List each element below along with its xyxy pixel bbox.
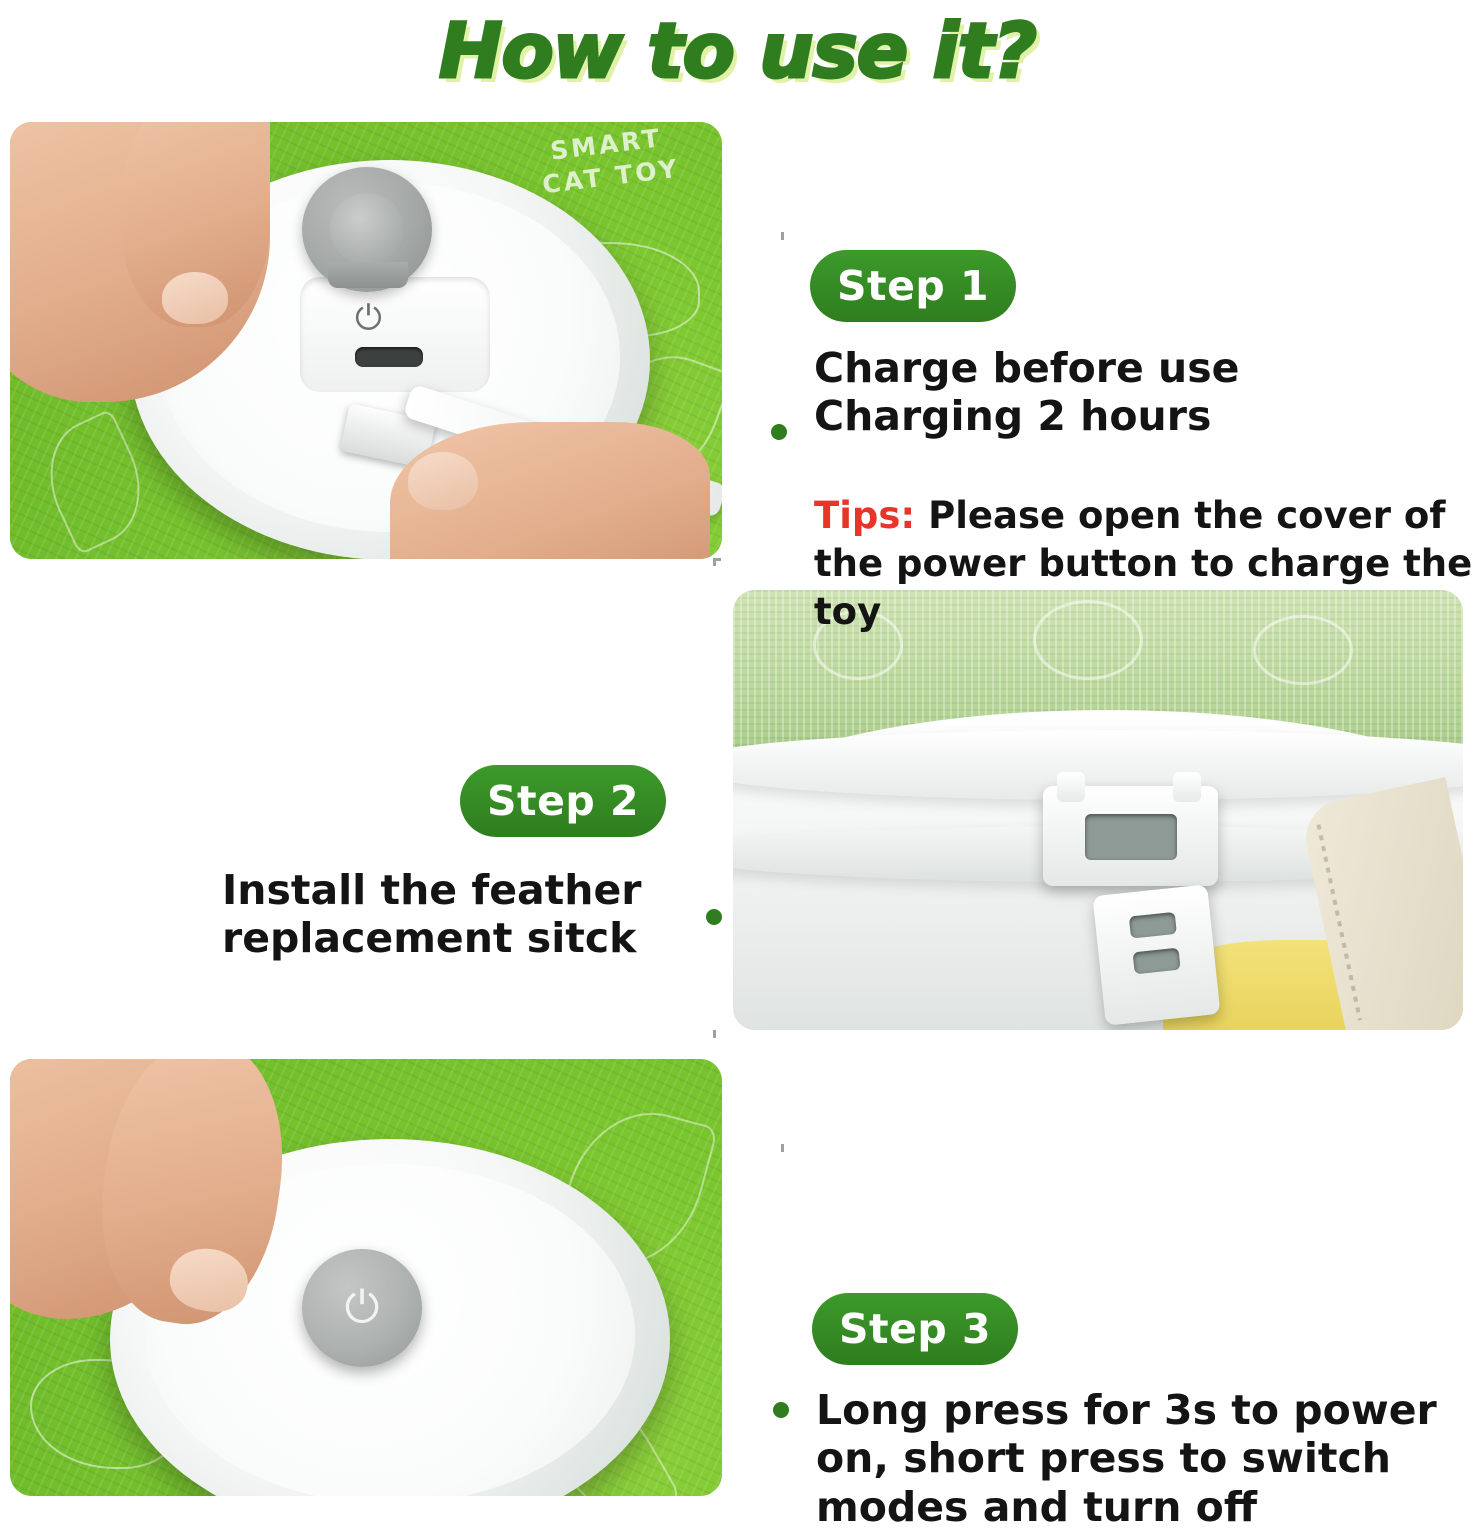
fingernail-right [408, 452, 478, 510]
steps-board: SMART CAT TOY ⏻ [0, 104, 1475, 1500]
connector-line-step2-vertical [713, 558, 716, 909]
clip-slot-a [1129, 912, 1177, 939]
page-title: How to use it? [439, 6, 1036, 95]
power-button[interactable]: ⏻ [302, 1249, 422, 1367]
step-1-badge: Step 1 [810, 250, 1016, 322]
step-1-bullet [771, 424, 787, 440]
connector-line-step1 [781, 232, 784, 424]
usb-c-port [355, 347, 423, 367]
step-3-bullet [773, 1402, 789, 1418]
photo-power-step3: ⏻ [10, 1059, 722, 1496]
fingernail-left [162, 272, 228, 324]
page-title-wrap: How to use it? [0, 0, 1475, 104]
tips-label: Tips: [814, 494, 915, 537]
step-2-badge: Step 2 [460, 765, 666, 837]
clip-tab-left [1057, 772, 1085, 802]
photo-clip-step2 [733, 590, 1463, 1030]
clip-slot-main [1085, 814, 1177, 860]
power-icon: ⏻ [345, 1286, 380, 1330]
connector-line-step3-vertical [781, 1144, 784, 1402]
step-2-text: Install the feather replacement sitck [222, 866, 692, 963]
connector-line-step3-top [713, 1144, 783, 1147]
step-2-bullet [706, 909, 722, 925]
clip-tab-right [1173, 772, 1201, 802]
cap-hinge [328, 262, 408, 288]
connector-line-step2-top [713, 558, 783, 561]
feather-stick-clip-secondary [1093, 884, 1221, 1025]
step-1-tips: Tips: Please open the cover of the power… [814, 492, 1474, 636]
power-symbol-icon: ⏻ [355, 298, 382, 338]
step-3-text: Long press for 3s to power on, short pre… [816, 1386, 1456, 1531]
feather-stick-clip-main [1043, 786, 1218, 886]
step-1-text: Charge before use Charging 2 hours [814, 344, 1464, 441]
step-3-badge: Step 3 [812, 1293, 1018, 1365]
clip-slot-b [1133, 948, 1181, 975]
photo-charging-step1: SMART CAT TOY ⏻ [10, 122, 722, 559]
cap-inner-ring [330, 193, 404, 265]
charge-port-recess [300, 277, 490, 392]
